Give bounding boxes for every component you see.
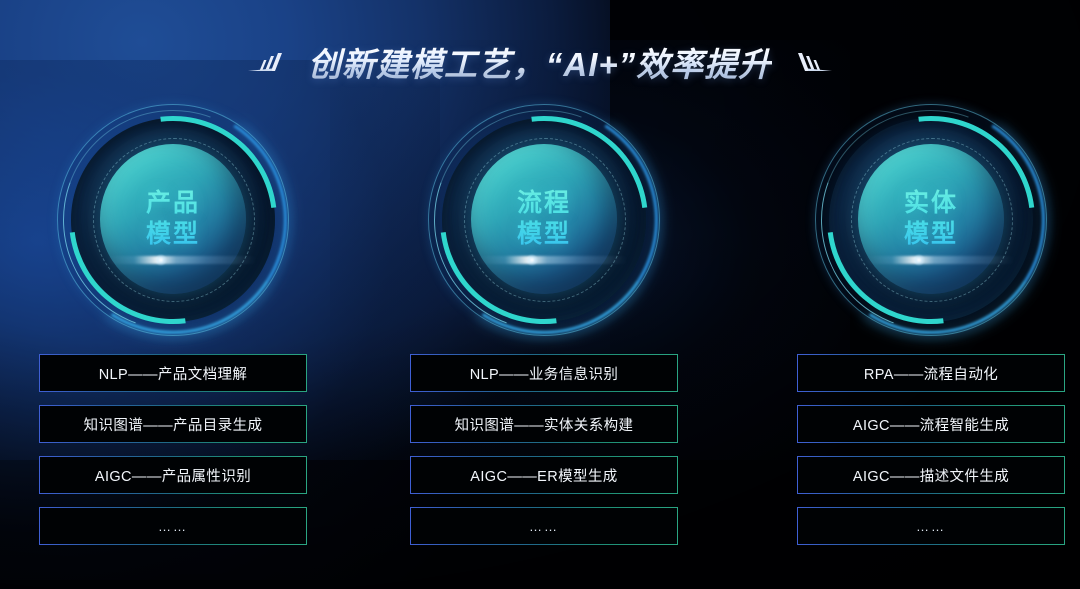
- capability-item-more[interactable]: ……: [410, 507, 678, 545]
- capability-label: NLP——业务信息识别: [470, 363, 619, 384]
- capability-item[interactable]: NLP——产品文档理解: [39, 354, 307, 392]
- capability-list: NLP——业务信息识别 知识图谱——实体关系构建 AIGC——ER模型生成 ……: [410, 354, 678, 558]
- capability-item[interactable]: AIGC——产品属性识别: [39, 456, 307, 494]
- model-badge-entity[interactable]: 实体 模型: [815, 104, 1047, 336]
- slide-canvas: 创新建模工艺，“AI+”效率提升 产品 模型: [0, 0, 1080, 589]
- capability-label: AIGC——ER模型生成: [470, 465, 617, 486]
- badge-label: 流程 模型: [517, 188, 571, 251]
- model-columns: 产品 模型 NLP——产品文档理解 知识图谱——产品目录生成 AIGC——产品属…: [0, 0, 1080, 589]
- capability-list: NLP——产品文档理解 知识图谱——产品目录生成 AIGC——产品属性识别 ……: [39, 354, 307, 558]
- capability-label: AIGC——流程智能生成: [853, 414, 1009, 435]
- badge-inner-disc: 流程 模型: [471, 144, 617, 294]
- capability-item[interactable]: RPA——流程自动化: [797, 354, 1065, 392]
- capability-label: ……: [529, 519, 559, 534]
- badge-label: 产品 模型: [146, 188, 200, 251]
- capability-label: 知识图谱——产品目录生成: [84, 414, 263, 435]
- capability-item[interactable]: AIGC——ER模型生成: [410, 456, 678, 494]
- badge-inner-disc: 实体 模型: [858, 144, 1004, 294]
- model-badge-product[interactable]: 产品 模型: [57, 104, 289, 336]
- capability-label: AIGC——描述文件生成: [853, 465, 1009, 486]
- badge-label: 实体 模型: [904, 188, 958, 251]
- capability-item[interactable]: 知识图谱——实体关系构建: [410, 405, 678, 443]
- capability-item[interactable]: AIGC——流程智能生成: [797, 405, 1065, 443]
- capability-list: RPA——流程自动化 AIGC——流程智能生成 AIGC——描述文件生成 ……: [797, 354, 1065, 558]
- capability-item-more[interactable]: ……: [39, 507, 307, 545]
- capability-label: ……: [916, 519, 946, 534]
- model-badge-process[interactable]: 流程 模型: [428, 104, 660, 336]
- capability-label: RPA——流程自动化: [864, 363, 998, 384]
- model-column: 流程 模型 NLP——业务信息识别 知识图谱——实体关系构建 AIGC——ER模…: [379, 0, 709, 589]
- capability-item-more[interactable]: ……: [797, 507, 1065, 545]
- capability-label: NLP——产品文档理解: [99, 363, 248, 384]
- capability-label: ……: [158, 519, 188, 534]
- capability-item[interactable]: 知识图谱——产品目录生成: [39, 405, 307, 443]
- capability-label: AIGC——产品属性识别: [95, 465, 251, 486]
- model-column: 产品 模型 NLP——产品文档理解 知识图谱——产品目录生成 AIGC——产品属…: [8, 0, 338, 589]
- model-column: 实体 模型 RPA——流程自动化 AIGC——流程智能生成 AIGC——描述文件…: [766, 0, 1080, 589]
- capability-item[interactable]: NLP——业务信息识别: [410, 354, 678, 392]
- capability-label: 知识图谱——实体关系构建: [455, 414, 634, 435]
- capability-item[interactable]: AIGC——描述文件生成: [797, 456, 1065, 494]
- badge-inner-disc: 产品 模型: [100, 144, 246, 294]
